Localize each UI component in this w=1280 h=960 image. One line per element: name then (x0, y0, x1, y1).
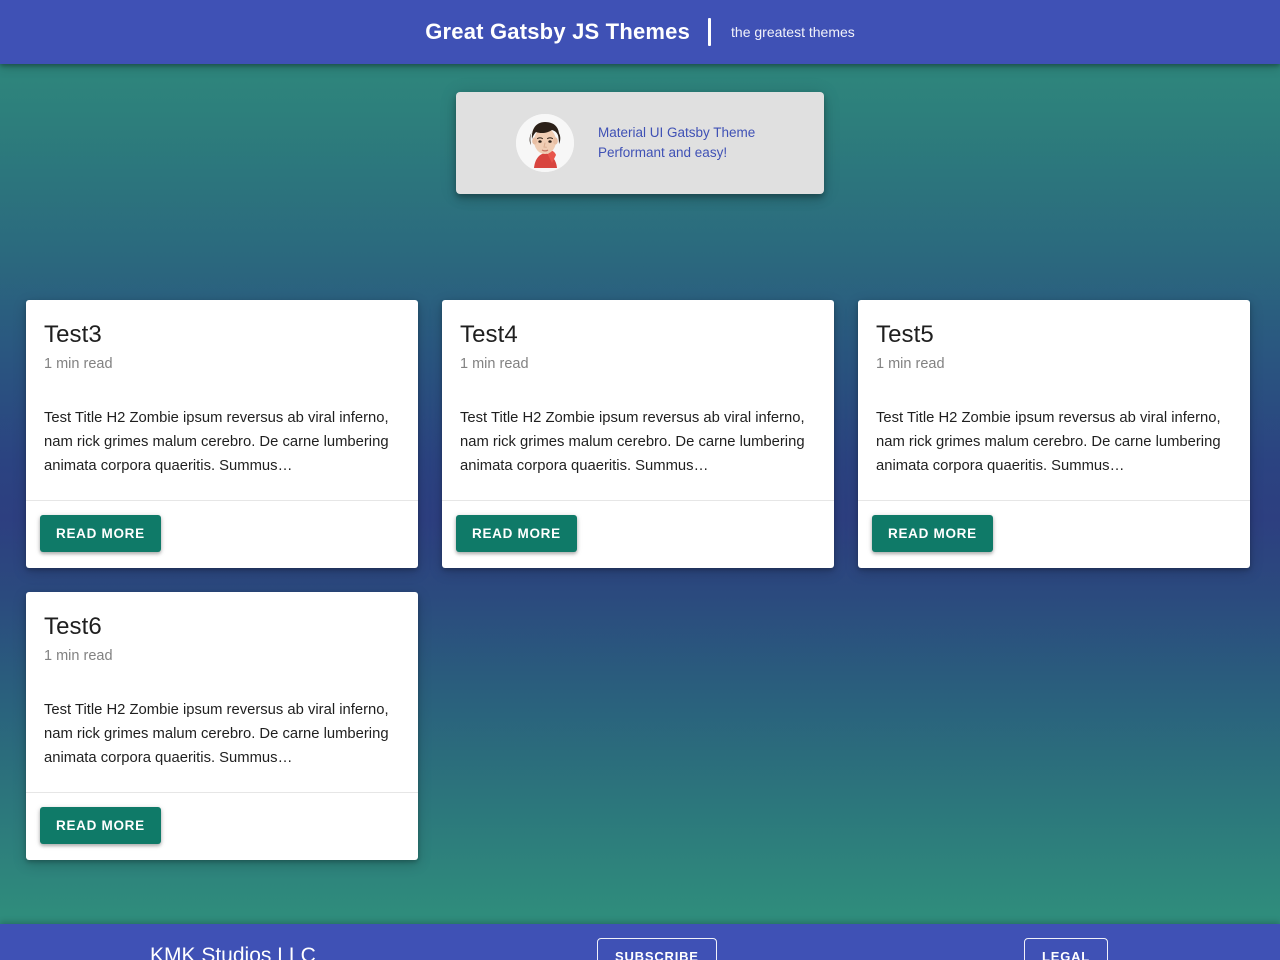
post-card-actions: READ MORE (858, 501, 1250, 568)
read-more-button[interactable]: READ MORE (456, 515, 577, 552)
post-card-title: Test4 (460, 320, 816, 350)
page-title: Great Gatsby JS Themes (425, 21, 690, 43)
post-card-excerpt: Test Title H2 Zombie ipsum reversus ab v… (876, 406, 1232, 478)
post-card-readtime: 1 min read (44, 354, 400, 374)
post-card-title: Test3 (44, 320, 400, 350)
promo-line-1: Material UI Gatsby Theme (598, 123, 755, 143)
read-more-button[interactable]: READ MORE (40, 807, 161, 844)
post-card[interactable]: Test4 1 min read Test Title H2 Zombie ip… (442, 300, 834, 568)
post-card[interactable]: Test6 1 min read Test Title H2 Zombie ip… (26, 592, 418, 860)
footer-brand: KMK Studios LLC (150, 944, 316, 960)
post-card[interactable]: Test5 1 min read Test Title H2 Zombie ip… (858, 300, 1250, 568)
avatar-photo-icon (516, 114, 574, 172)
vertical-divider-icon (708, 18, 711, 46)
read-more-button[interactable]: READ MORE (872, 515, 993, 552)
post-card-readtime: 1 min read (876, 354, 1232, 374)
main-content: Material UI Gatsby Theme Performant and … (0, 92, 1280, 924)
app-footer: KMK Studios LLC SUBSCRIBE LEGAL (0, 924, 1280, 960)
post-card-body: Test5 1 min read Test Title H2 Zombie ip… (858, 300, 1250, 500)
post-card-excerpt: Test Title H2 Zombie ipsum reversus ab v… (44, 698, 400, 770)
promo-banner[interactable]: Material UI Gatsby Theme Performant and … (456, 92, 824, 194)
post-card[interactable]: Test3 1 min read Test Title H2 Zombie ip… (26, 300, 418, 568)
post-card-title: Test6 (44, 612, 400, 642)
subscribe-button[interactable]: SUBSCRIBE (597, 938, 717, 960)
app-header-content: Great Gatsby JS Themes the greatest them… (425, 18, 855, 46)
post-card-actions: READ MORE (26, 793, 418, 860)
post-card-body: Test3 1 min read Test Title H2 Zombie ip… (26, 300, 418, 500)
post-card-title: Test5 (876, 320, 1232, 350)
post-card-actions: READ MORE (26, 501, 418, 568)
post-card-excerpt: Test Title H2 Zombie ipsum reversus ab v… (460, 406, 816, 478)
promo-line-2: Performant and easy! (598, 143, 755, 163)
post-card-grid: Test3 1 min read Test Title H2 Zombie ip… (26, 300, 1254, 860)
header-tagline: the greatest themes (731, 25, 855, 39)
legal-button[interactable]: LEGAL (1024, 938, 1108, 960)
app-header: Great Gatsby JS Themes the greatest them… (0, 0, 1280, 64)
post-card-readtime: 1 min read (460, 354, 816, 374)
post-card-excerpt: Test Title H2 Zombie ipsum reversus ab v… (44, 406, 400, 478)
read-more-button[interactable]: READ MORE (40, 515, 161, 552)
post-card-readtime: 1 min read (44, 646, 400, 666)
promo-text: Material UI Gatsby Theme Performant and … (598, 123, 755, 163)
post-card-body: Test6 1 min read Test Title H2 Zombie ip… (26, 592, 418, 792)
post-card-actions: READ MORE (442, 501, 834, 568)
post-card-body: Test4 1 min read Test Title H2 Zombie ip… (442, 300, 834, 500)
